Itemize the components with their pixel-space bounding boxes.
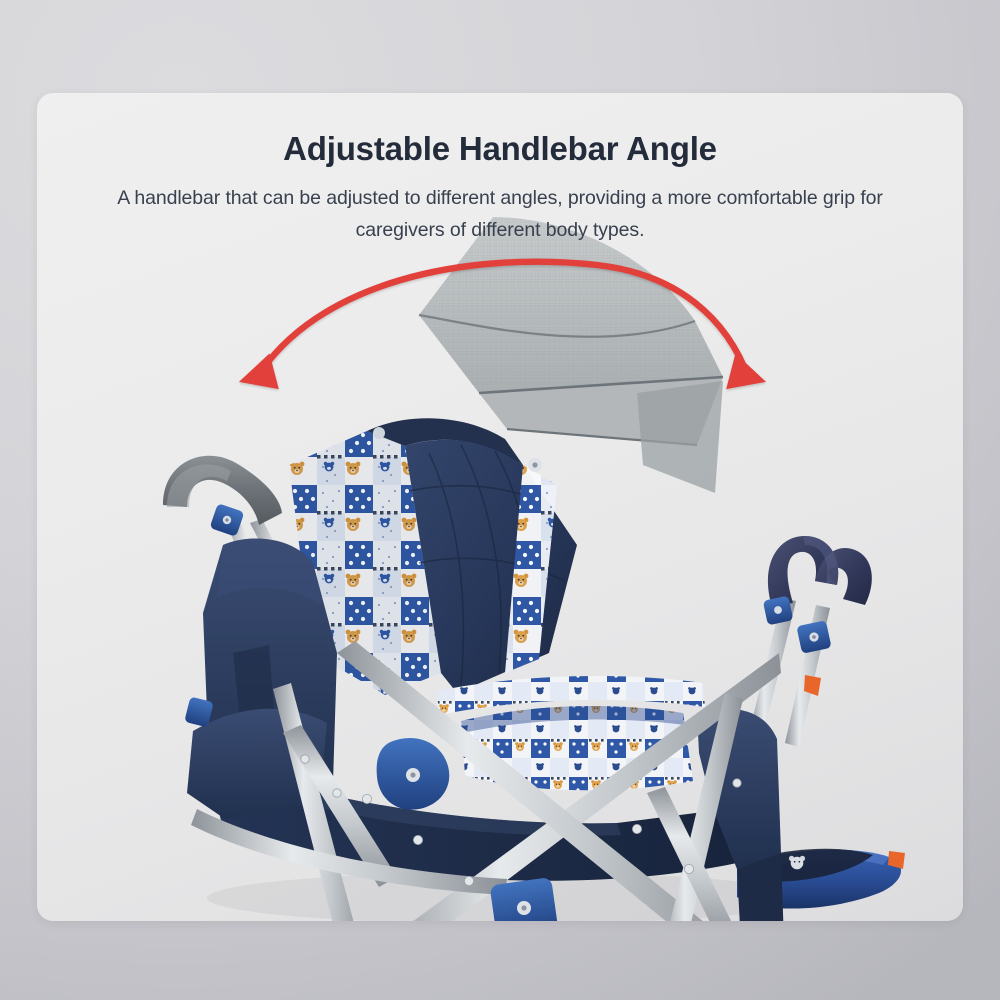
seat-pad (437, 676, 705, 790)
right-handlebar (749, 536, 872, 747)
hood-hinge-left (373, 427, 385, 439)
feature-card: Adjustable Handlebar Angle A handlebar t… (37, 93, 963, 921)
page-title: Adjustable Handlebar Angle (37, 129, 963, 169)
page-subtitle: A handlebar that can be adjusted to diff… (105, 182, 895, 246)
feature-text-block: Adjustable Handlebar Angle A handlebar t… (37, 129, 963, 246)
